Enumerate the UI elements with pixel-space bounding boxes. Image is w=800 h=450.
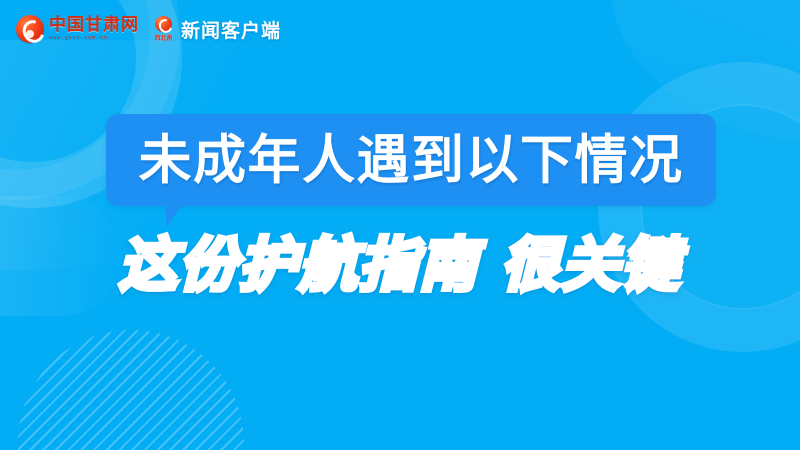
xibeijiao-glyph-icon: [155, 16, 172, 32]
brand-news-app[interactable]: 西北角 新闻客户端: [151, 16, 281, 43]
gscn-wordmark: 中国甘肃网 www.gscn.com.cn: [49, 17, 139, 42]
subtitle-block: 这份护航指南 很关键: [0, 222, 800, 308]
xibeijiao-mark-label: 西北角: [154, 33, 172, 42]
decorative-striped-circle-bottom-left: [18, 330, 244, 450]
gscn-url: www.gscn.com.cn: [49, 36, 139, 42]
subtitle-text: 这份护航指南 很关键: [119, 236, 681, 294]
decorative-ring-right: [598, 62, 800, 352]
xibeijiao-circle-logo-icon: 西北角: [151, 16, 176, 42]
headline-text: 未成年人遇到以下情况: [139, 134, 684, 187]
poster-canvas: 中国甘肃网 www.gscn.com.cn 西北角 新闻客户端 未成年人遇到以下…: [0, 0, 800, 450]
logo-bar: 中国甘肃网 www.gscn.com.cn 西北角 新闻客户端: [16, 10, 281, 48]
brand-gscn[interactable]: 中国甘肃网 www.gscn.com.cn: [16, 15, 139, 43]
gscn-circle-logo-icon: [16, 15, 44, 43]
headline-speech-bubble: 未成年人遇到以下情况: [106, 114, 716, 206]
news-app-label: 新闻客户端: [181, 16, 281, 43]
gscn-name: 中国甘肃网: [49, 17, 139, 34]
